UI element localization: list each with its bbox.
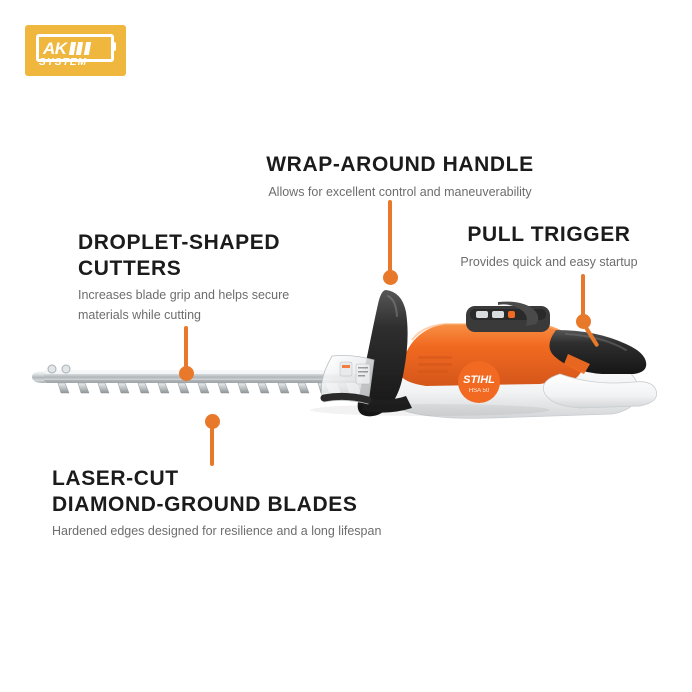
battery-pack: [466, 302, 550, 332]
infographic-canvas: AK SYSTEM: [0, 0, 692, 692]
stihl-badge: STIHL HSA 50: [458, 361, 500, 403]
callout-pull-trigger: PULL TRIGGER Provides quick and easy sta…: [420, 222, 678, 272]
svg-text:HSA 50: HSA 50: [469, 388, 490, 394]
hand-guard: [321, 356, 374, 405]
callout-title-line-2: CUTTERS: [78, 257, 181, 280]
callout-droplet-shaped-cutters: DROPLET-SHAPED CUTTERS Increases blade g…: [78, 230, 308, 325]
callout-subtitle-line-2: materials while cutting: [78, 308, 201, 322]
pointer-dot-laser-cut-blades: [205, 414, 220, 429]
callout-title-line-1: DROPLET-SHAPED: [78, 231, 280, 254]
logo-primary-text: AK: [43, 40, 67, 57]
callout-subtitle-line-1: Increases blade grip and helps secure: [78, 288, 289, 302]
callout-title-line-2: DIAMOND-GROUND BLADES: [52, 493, 357, 516]
pointer-dot-droplet-cutters: [179, 366, 194, 381]
callout-title-wrap-around-handle: WRAP-AROUND HANDLE: [250, 152, 550, 178]
pointer-dot-wrap-around-handle: [383, 270, 398, 285]
callout-subtitle-wrap-around-handle: Allows for excellent control and maneuve…: [250, 183, 550, 202]
callout-laser-cut-blades: LASER-CUT DIAMOND-GROUND BLADES Hardened…: [52, 466, 422, 542]
callout-title-line-1: LASER-CUT: [52, 467, 179, 490]
pointer-line-wrap-around-handle: [388, 200, 392, 278]
battery-bars-icon: [70, 42, 90, 55]
callout-title-laser-cut-blades: LASER-CUT DIAMOND-GROUND BLADES: [52, 466, 422, 517]
callout-wrap-around-handle: WRAP-AROUND HANDLE Allows for excellent …: [250, 152, 550, 202]
callout-subtitle-droplet-shaped-cutters: Increases blade grip and helps secure ma…: [78, 286, 308, 325]
svg-text:STIHL: STIHL: [463, 374, 495, 386]
logo-secondary-text: SYSTEM: [39, 58, 87, 68]
battery-terminal-icon: [111, 42, 116, 51]
ak-system-logo: AK SYSTEM: [25, 25, 126, 76]
callout-subtitle-laser-cut-blades: Hardened edges designed for resilience a…: [52, 522, 422, 541]
callout-title-droplet-shaped-cutters: DROPLET-SHAPED CUTTERS: [78, 230, 308, 281]
callout-title-pull-trigger: PULL TRIGGER: [420, 222, 678, 248]
callout-subtitle-pull-trigger: Provides quick and easy startup: [420, 253, 678, 272]
